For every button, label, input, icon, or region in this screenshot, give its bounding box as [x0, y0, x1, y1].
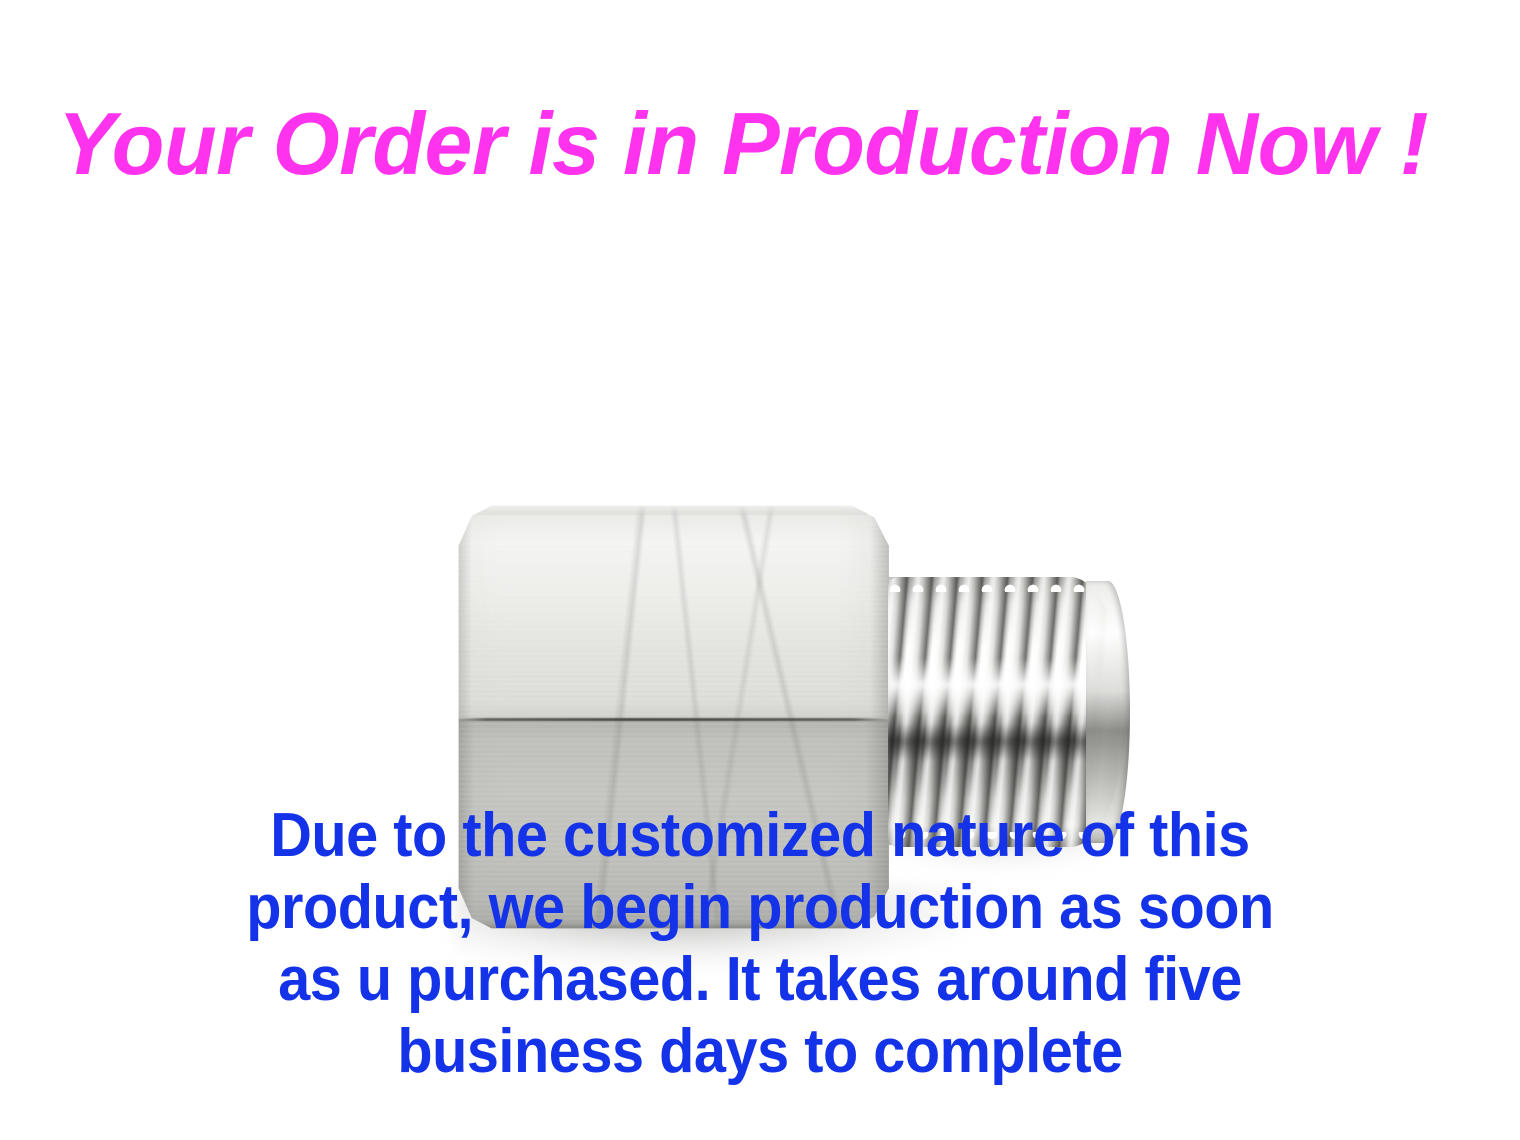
- promo-banner: Your Order is in Production Now !: [0, 0, 1520, 1140]
- notice-line-3: as u purchased. It takes around five: [53, 944, 1467, 1016]
- hex-chamfer-top: [456, 503, 887, 515]
- notice-line-4: business days to complete: [53, 1016, 1467, 1088]
- notice-line-2: product, we begin production as soon: [53, 872, 1467, 944]
- production-notice: Due to the customized nature of this pro…: [0, 800, 1520, 1088]
- hex-facet-seam: [456, 718, 887, 721]
- product-photo: [0, 225, 1520, 795]
- notice-line-1: Due to the customized nature of this: [53, 800, 1467, 872]
- page-title: Your Order is in Production Now !: [0, 96, 1488, 192]
